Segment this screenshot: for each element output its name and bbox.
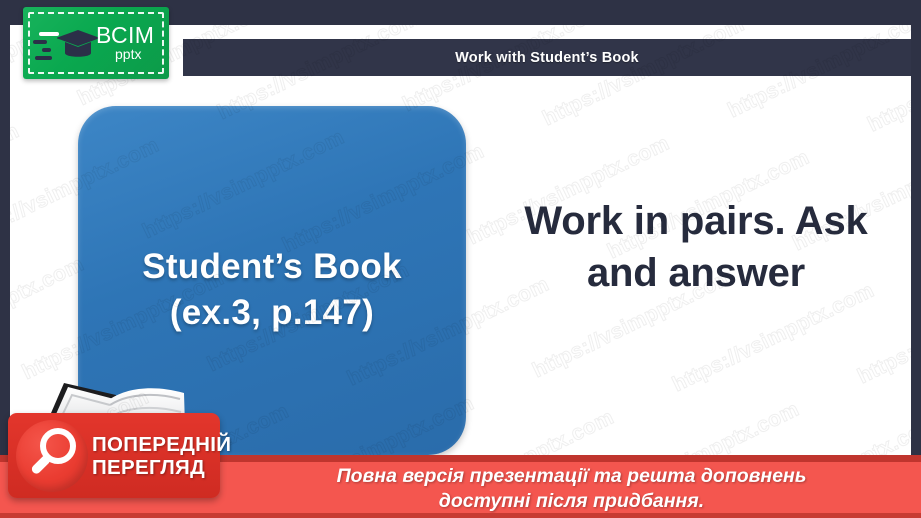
presentation-slide: Student’s Book (ex.3, p.147) Work in pai… [0, 0, 921, 518]
logo-brand-text: ВСІМ pptx [96, 23, 154, 62]
slide-headline: Work in pairs. Ask and answer [486, 195, 906, 299]
purchase-notice-line-2: доступні після придбання. [222, 489, 921, 514]
logo-brand-line-1: ВСІМ [96, 23, 154, 47]
purchase-notice-text: Повна версія презентації та решта доповн… [222, 464, 921, 514]
student-book-line-1: Student’s Book [142, 244, 402, 290]
magnifier-icon [16, 420, 88, 492]
headline-line-1: Work in pairs. Ask [486, 195, 906, 247]
preview-badge-line-2: ПЕРЕГЛЯД [92, 456, 231, 479]
site-logo[interactable]: ВСІМ pptx [23, 7, 169, 79]
student-book-panel-text: Student’s Book (ex.3, p.147) [130, 244, 414, 336]
purchase-notice-line-1: Повна версія презентації та решта доповн… [222, 464, 921, 489]
headline-line-2: and answer [486, 247, 906, 299]
preview-badge-line-1: ПОПЕРЕДНІЙ [92, 433, 231, 456]
page-title: Work with Student’s Book [455, 50, 639, 66]
speed-line [33, 40, 47, 44]
watermark-text: https://vsimpptx.com [10, 252, 88, 370]
speed-line [42, 48, 51, 52]
speed-line [35, 56, 52, 60]
preview-badge[interactable]: ПОПЕРЕДНІЙ ПЕРЕГЛЯД [8, 413, 220, 498]
logo-brand-line-2: pptx [115, 47, 154, 62]
watermark-text: https://vsimpptx.com [10, 119, 23, 237]
student-book-line-2: (ex.3, p.147) [142, 290, 402, 336]
preview-badge-text: ПОПЕРЕДНІЙ ПЕРЕГЛЯД [92, 433, 231, 479]
speed-line [39, 32, 59, 36]
graduation-cap-icon [57, 29, 101, 63]
slide-header-bar: Work with Student’s Book [183, 39, 911, 76]
notice-bottom-strip [0, 513, 921, 518]
